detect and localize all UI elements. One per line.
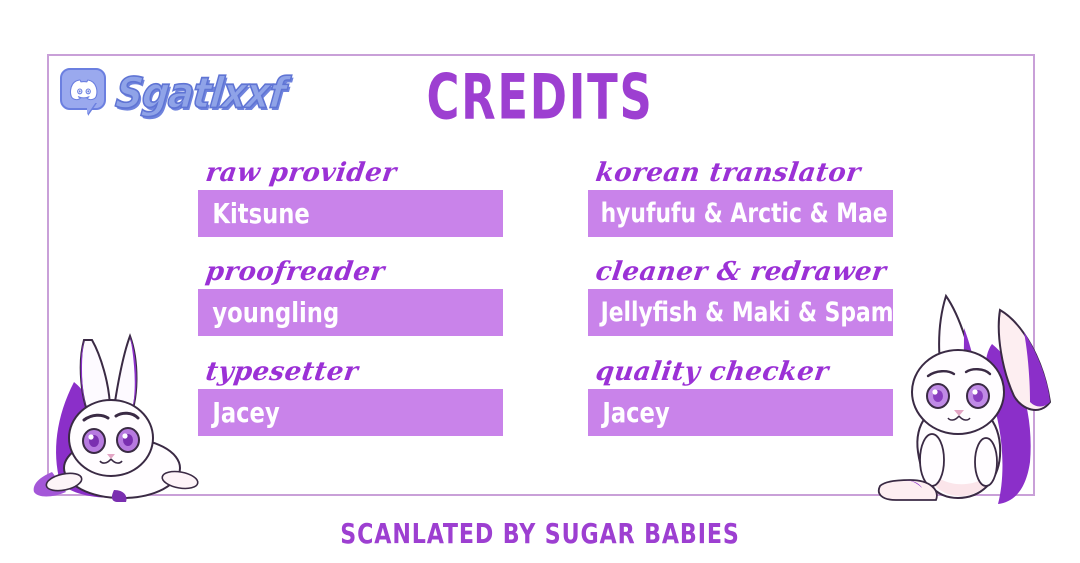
credit-role-label: typesetter bbox=[204, 359, 507, 385]
credit-role-label: raw provider bbox=[204, 160, 507, 186]
credit-entry: typesetter Jacey bbox=[198, 359, 503, 436]
credit-name-bar: youngling bbox=[198, 289, 503, 336]
credit-name: Jacey bbox=[588, 399, 670, 427]
credit-name: youngling bbox=[198, 299, 339, 327]
credit-entry: cleaner & redrawer Jellyfish & Maki & Sp… bbox=[588, 259, 893, 336]
credit-name-bar: Jacey bbox=[588, 389, 893, 436]
bunny-sitting-icon bbox=[874, 284, 1060, 510]
credit-name: hyufufu & Arctic & Mae bbox=[588, 200, 888, 227]
bunny-lying-icon bbox=[22, 322, 212, 502]
credit-entry: quality checker Jacey bbox=[588, 359, 893, 436]
credit-entry: korean translator hyufufu & Arctic & Mae bbox=[588, 160, 893, 237]
credit-role-label: korean translator bbox=[594, 160, 897, 186]
credit-name-bar: Jellyfish & Maki & Spambo bbox=[588, 289, 893, 336]
credit-role-label: proofreader bbox=[204, 259, 507, 285]
credit-role-label: cleaner & redrawer bbox=[594, 259, 897, 285]
credits-page: Sgatlxxf CREDITS raw provider Kitsune pr… bbox=[0, 0, 1080, 563]
credit-name-bar: Kitsune bbox=[198, 190, 503, 237]
credit-name-bar: Jacey bbox=[198, 389, 503, 436]
credit-entry: raw provider Kitsune bbox=[198, 160, 503, 237]
credit-name-bar: hyufufu & Arctic & Mae bbox=[588, 190, 893, 237]
credit-name: Kitsune bbox=[198, 200, 310, 228]
credit-role-label: quality checker bbox=[594, 359, 897, 385]
footer-credit: SCANLATED BY SUGAR BABIES bbox=[65, 517, 1015, 550]
credit-entry: proofreader youngling bbox=[198, 259, 503, 336]
